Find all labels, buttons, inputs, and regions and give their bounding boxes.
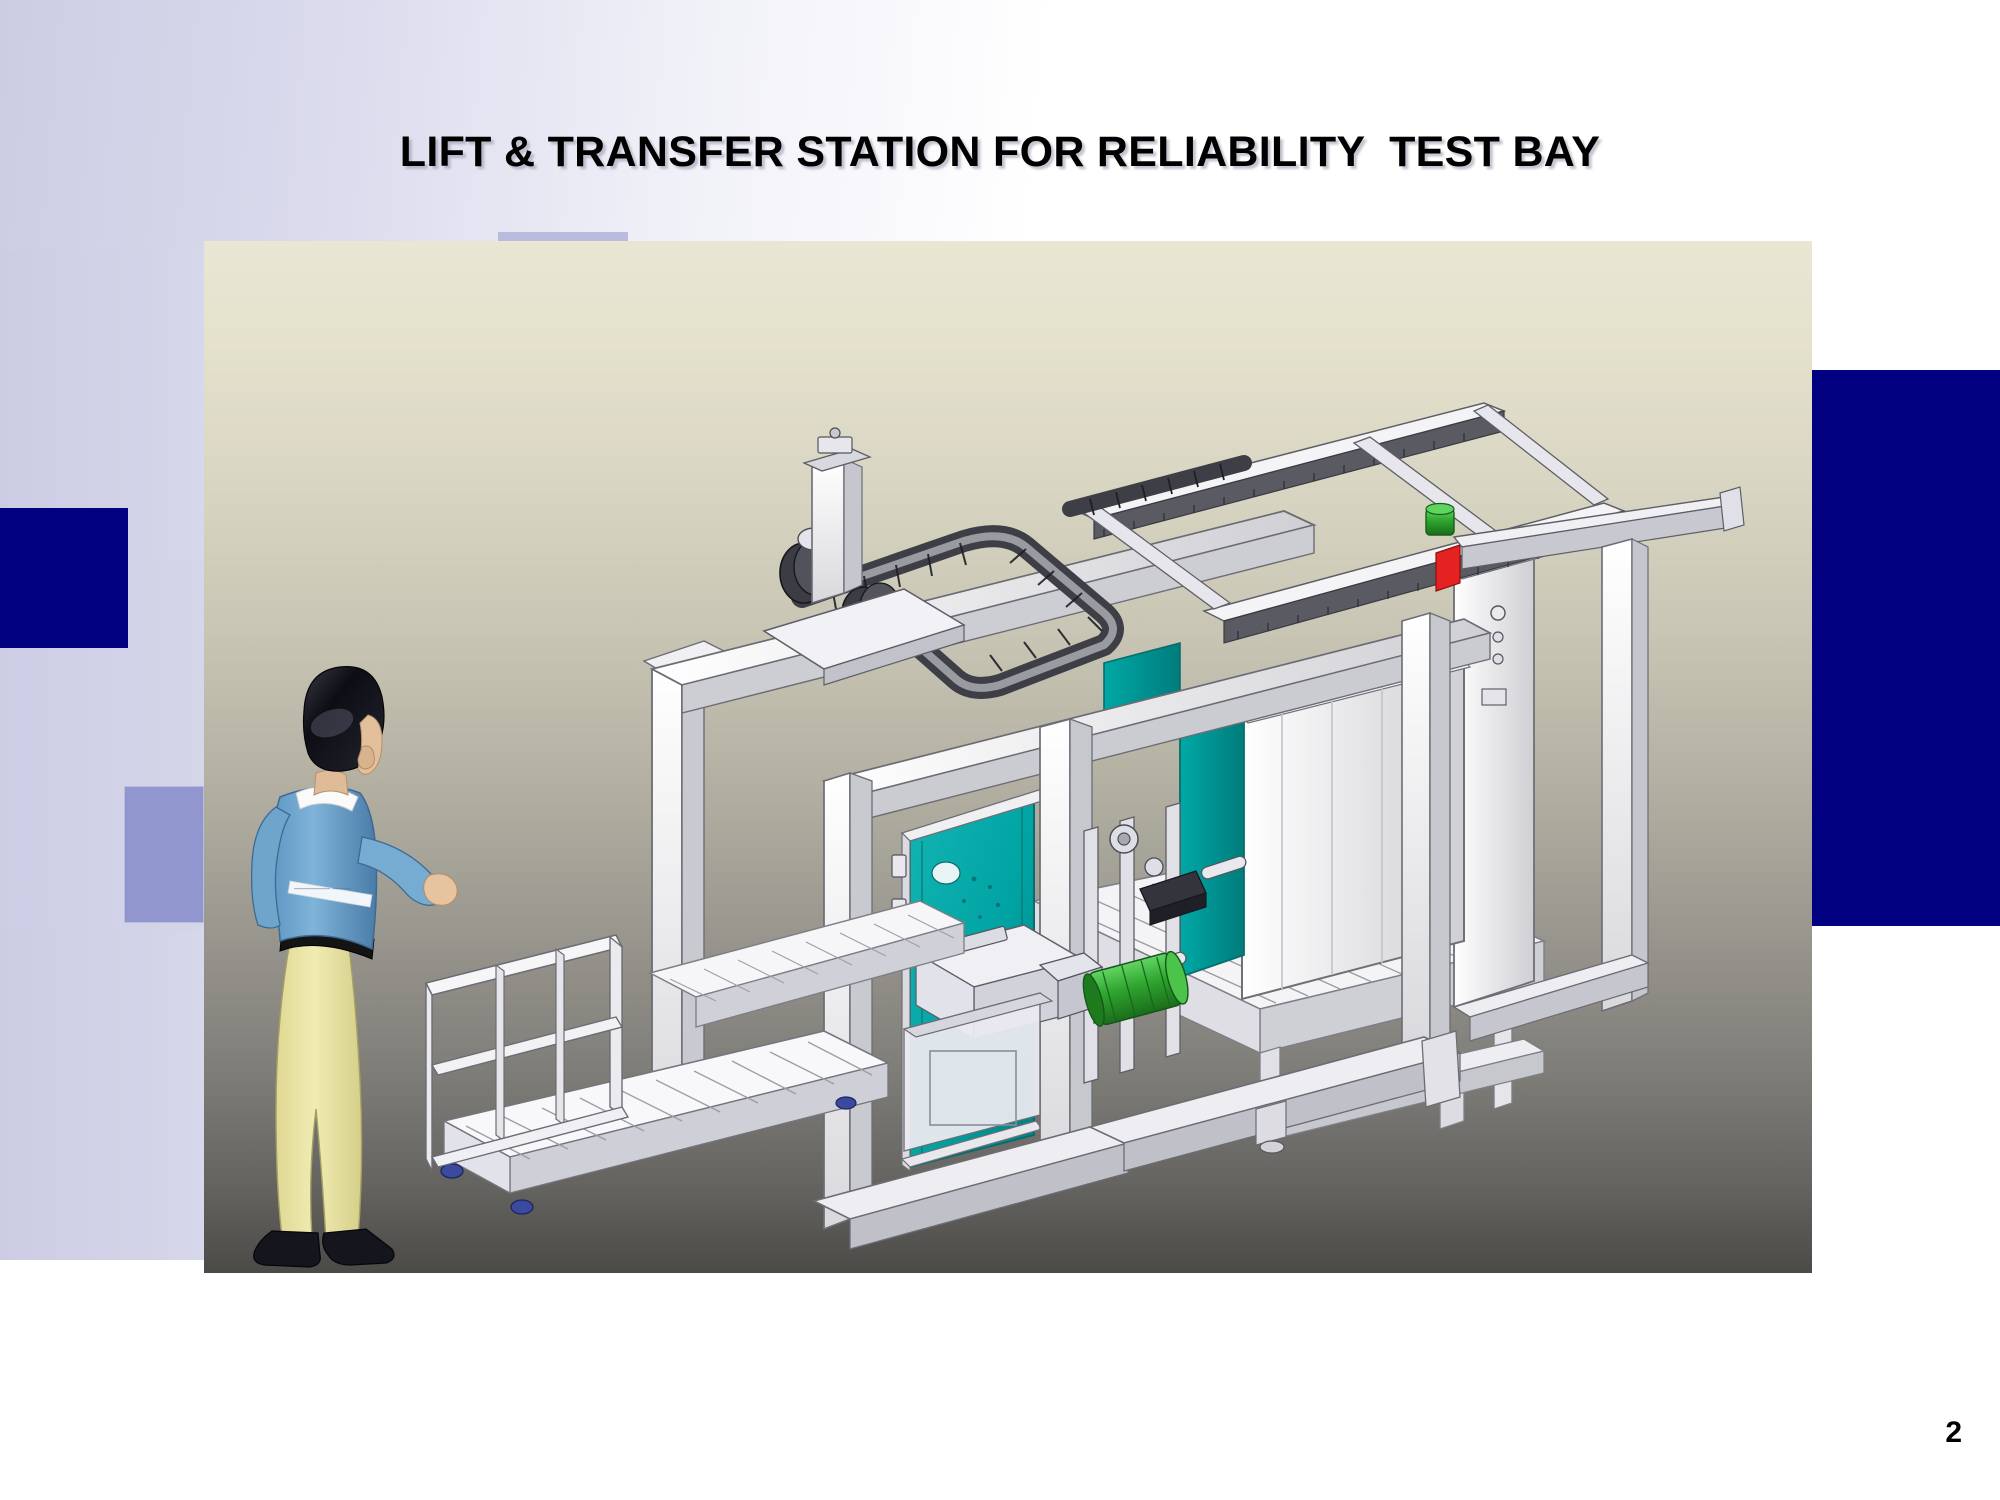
cad-rendering-image: ———— —— (204, 241, 1812, 1273)
presentation-slide: LIFT & TRANSFER STATION FOR RELIABILITY … (0, 0, 2000, 1500)
decor-periwinkle-square (124, 786, 204, 923)
page-number: 2 (1945, 1416, 1962, 1450)
red-stop-marker (1436, 545, 1460, 591)
cad-assembly: ———— —— (252, 403, 1744, 1267)
page-title: LIFT & TRANSFER STATION FOR RELIABILITY … (0, 128, 2000, 177)
control-cabinet-door (1454, 549, 1542, 1007)
svg-text:———— ——: ———— —— (294, 883, 351, 893)
lift-column (804, 428, 870, 603)
overhead-gantry-rail (1072, 403, 1624, 643)
green-end-cap (1426, 504, 1454, 536)
background-lavender-top-strip (0, 0, 2000, 250)
cad-rendering-svg: ———— —— (204, 241, 1812, 1273)
technician-figure: ———— —— (252, 667, 458, 1267)
decor-navy-square-left (0, 508, 128, 648)
decor-navy-block-right (1806, 370, 2000, 926)
